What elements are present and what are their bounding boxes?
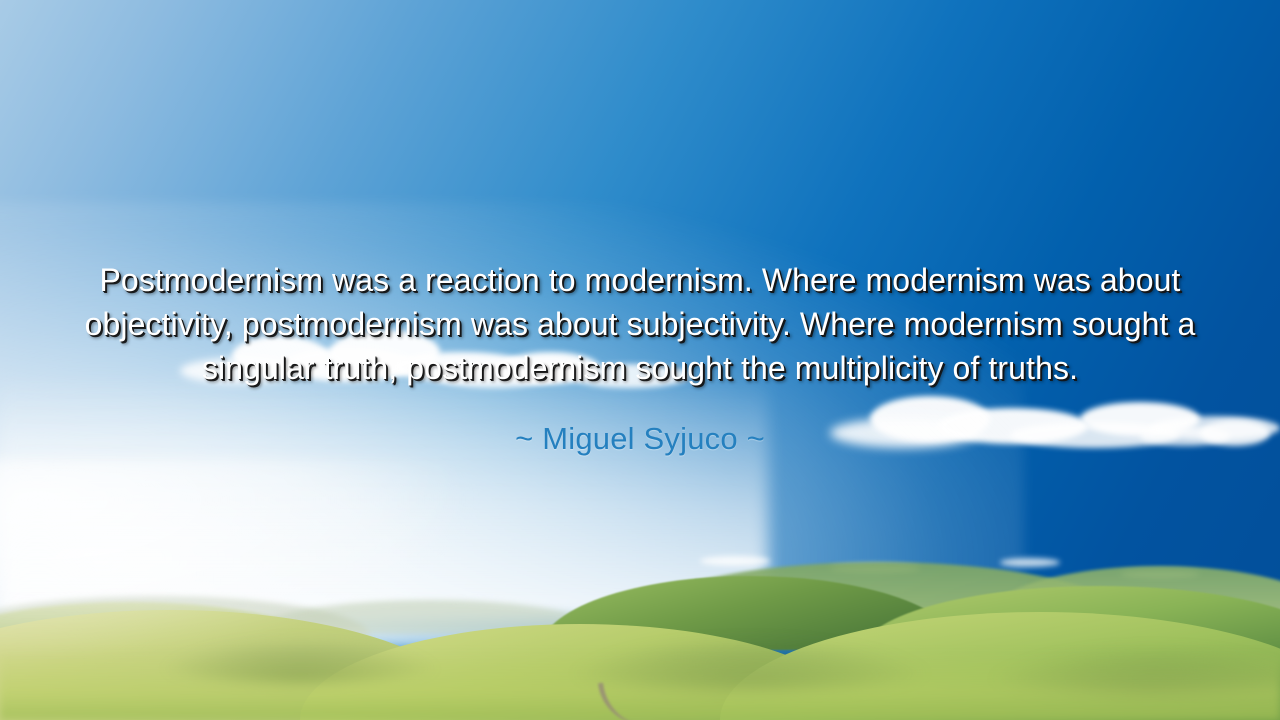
quote-text: Postmodernism was a reaction to modernis… — [45, 258, 1235, 390]
rolling-hills — [0, 490, 1280, 720]
quote-author: ~ Miguel Syjuco ~ — [40, 420, 1240, 458]
hills-left-haze — [0, 460, 480, 660]
quote-content: Postmodernism was a reaction to modernis… — [0, 258, 1280, 458]
quote-card: Postmodernism was a reaction to modernis… — [0, 0, 1280, 720]
